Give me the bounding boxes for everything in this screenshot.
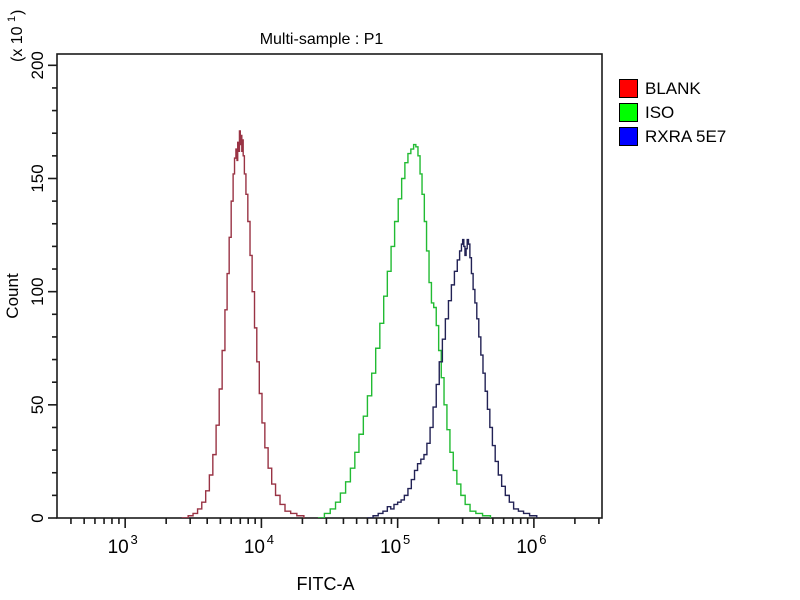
flow-cytometry-histogram: 050100150200103104105106Multi-sample : P… [0, 0, 800, 600]
x-tick-label: 10 [380, 537, 401, 558]
legend-item-blank[interactable]: BLANK [619, 78, 726, 99]
plot-frame [57, 54, 602, 518]
x-tick-exponent: 3 [131, 532, 138, 547]
chart-title: Multi-sample : P1 [260, 31, 384, 48]
y-axis-unit-close: ) [9, 10, 26, 15]
series-curve-iso [318, 145, 491, 518]
legend: BLANK ISO RXRA 5E7 [619, 78, 726, 147]
x-tick-exponent: 5 [403, 532, 410, 547]
x-tick-label: 10 [516, 537, 537, 558]
legend-swatch-blank [619, 79, 638, 98]
legend-swatch-rxra [619, 127, 638, 146]
legend-label-iso: ISO [645, 103, 674, 122]
y-tick-label: 50 [28, 395, 47, 414]
x-tick-exponent: 6 [539, 532, 546, 547]
y-tick-label: 100 [28, 277, 47, 305]
y-axis-title: Count [3, 273, 22, 319]
y-axis-unit-text: (x 10 [9, 26, 26, 62]
y-tick-label: 150 [28, 164, 47, 192]
legend-label-rxra: RXRA 5E7 [645, 127, 726, 146]
legend-label-blank: BLANK [645, 79, 701, 98]
series-curve-blank [182, 131, 304, 518]
x-axis-title: FITC-A [297, 574, 355, 594]
legend-item-iso[interactable]: ISO [619, 102, 726, 123]
x-tick-label: 10 [108, 537, 129, 558]
legend-item-rxra[interactable]: RXRA 5E7 [619, 126, 726, 147]
series-curve-rxra-5e7 [367, 240, 536, 518]
x-tick-label: 10 [244, 537, 265, 558]
y-axis-unit: (x 101) [6, 10, 26, 62]
y-axis-unit-exponent: 1 [6, 16, 18, 22]
y-tick-label: 0 [28, 513, 47, 522]
y-tick-label: 200 [28, 51, 47, 79]
x-tick-exponent: 4 [267, 532, 274, 547]
legend-swatch-iso [619, 103, 638, 122]
